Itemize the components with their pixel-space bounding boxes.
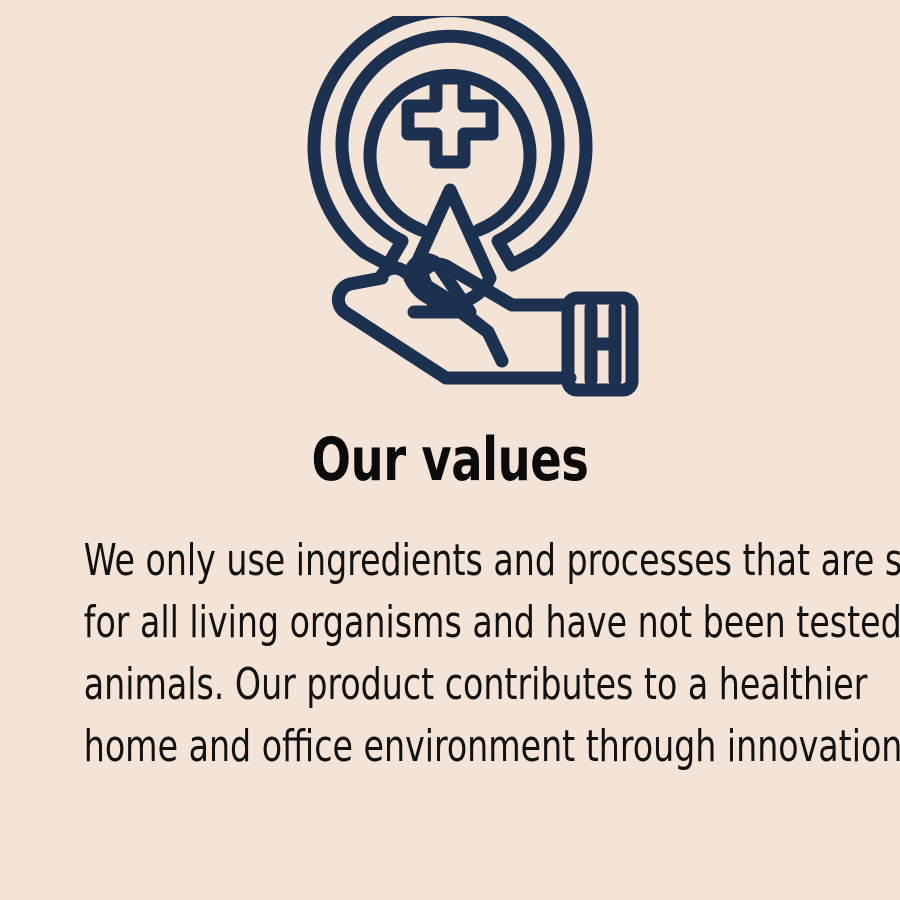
medical-cross-icon	[408, 78, 492, 162]
inner-ring-arc	[370, 75, 530, 230]
values-description: We only use ingredients and processes th…	[0, 530, 900, 778]
page-title: Our values	[312, 430, 589, 490]
description-line-1: We only use ingredients and processes th…	[84, 530, 816, 592]
description-line-2: for all living organisms and have not be…	[84, 592, 816, 654]
our-values-card: Our values We only use ingredients and p…	[0, 0, 900, 900]
cuff-inner-detail	[591, 308, 615, 380]
description-line-4: home and office environment through inno…	[84, 716, 816, 778]
description-line-3: animals. Our product contributes to a he…	[84, 654, 816, 716]
outer-ring-arc	[314, 16, 586, 265]
values-illustration	[250, 16, 650, 416]
hand-holding-droplet-medical-cross-icon	[250, 16, 650, 416]
